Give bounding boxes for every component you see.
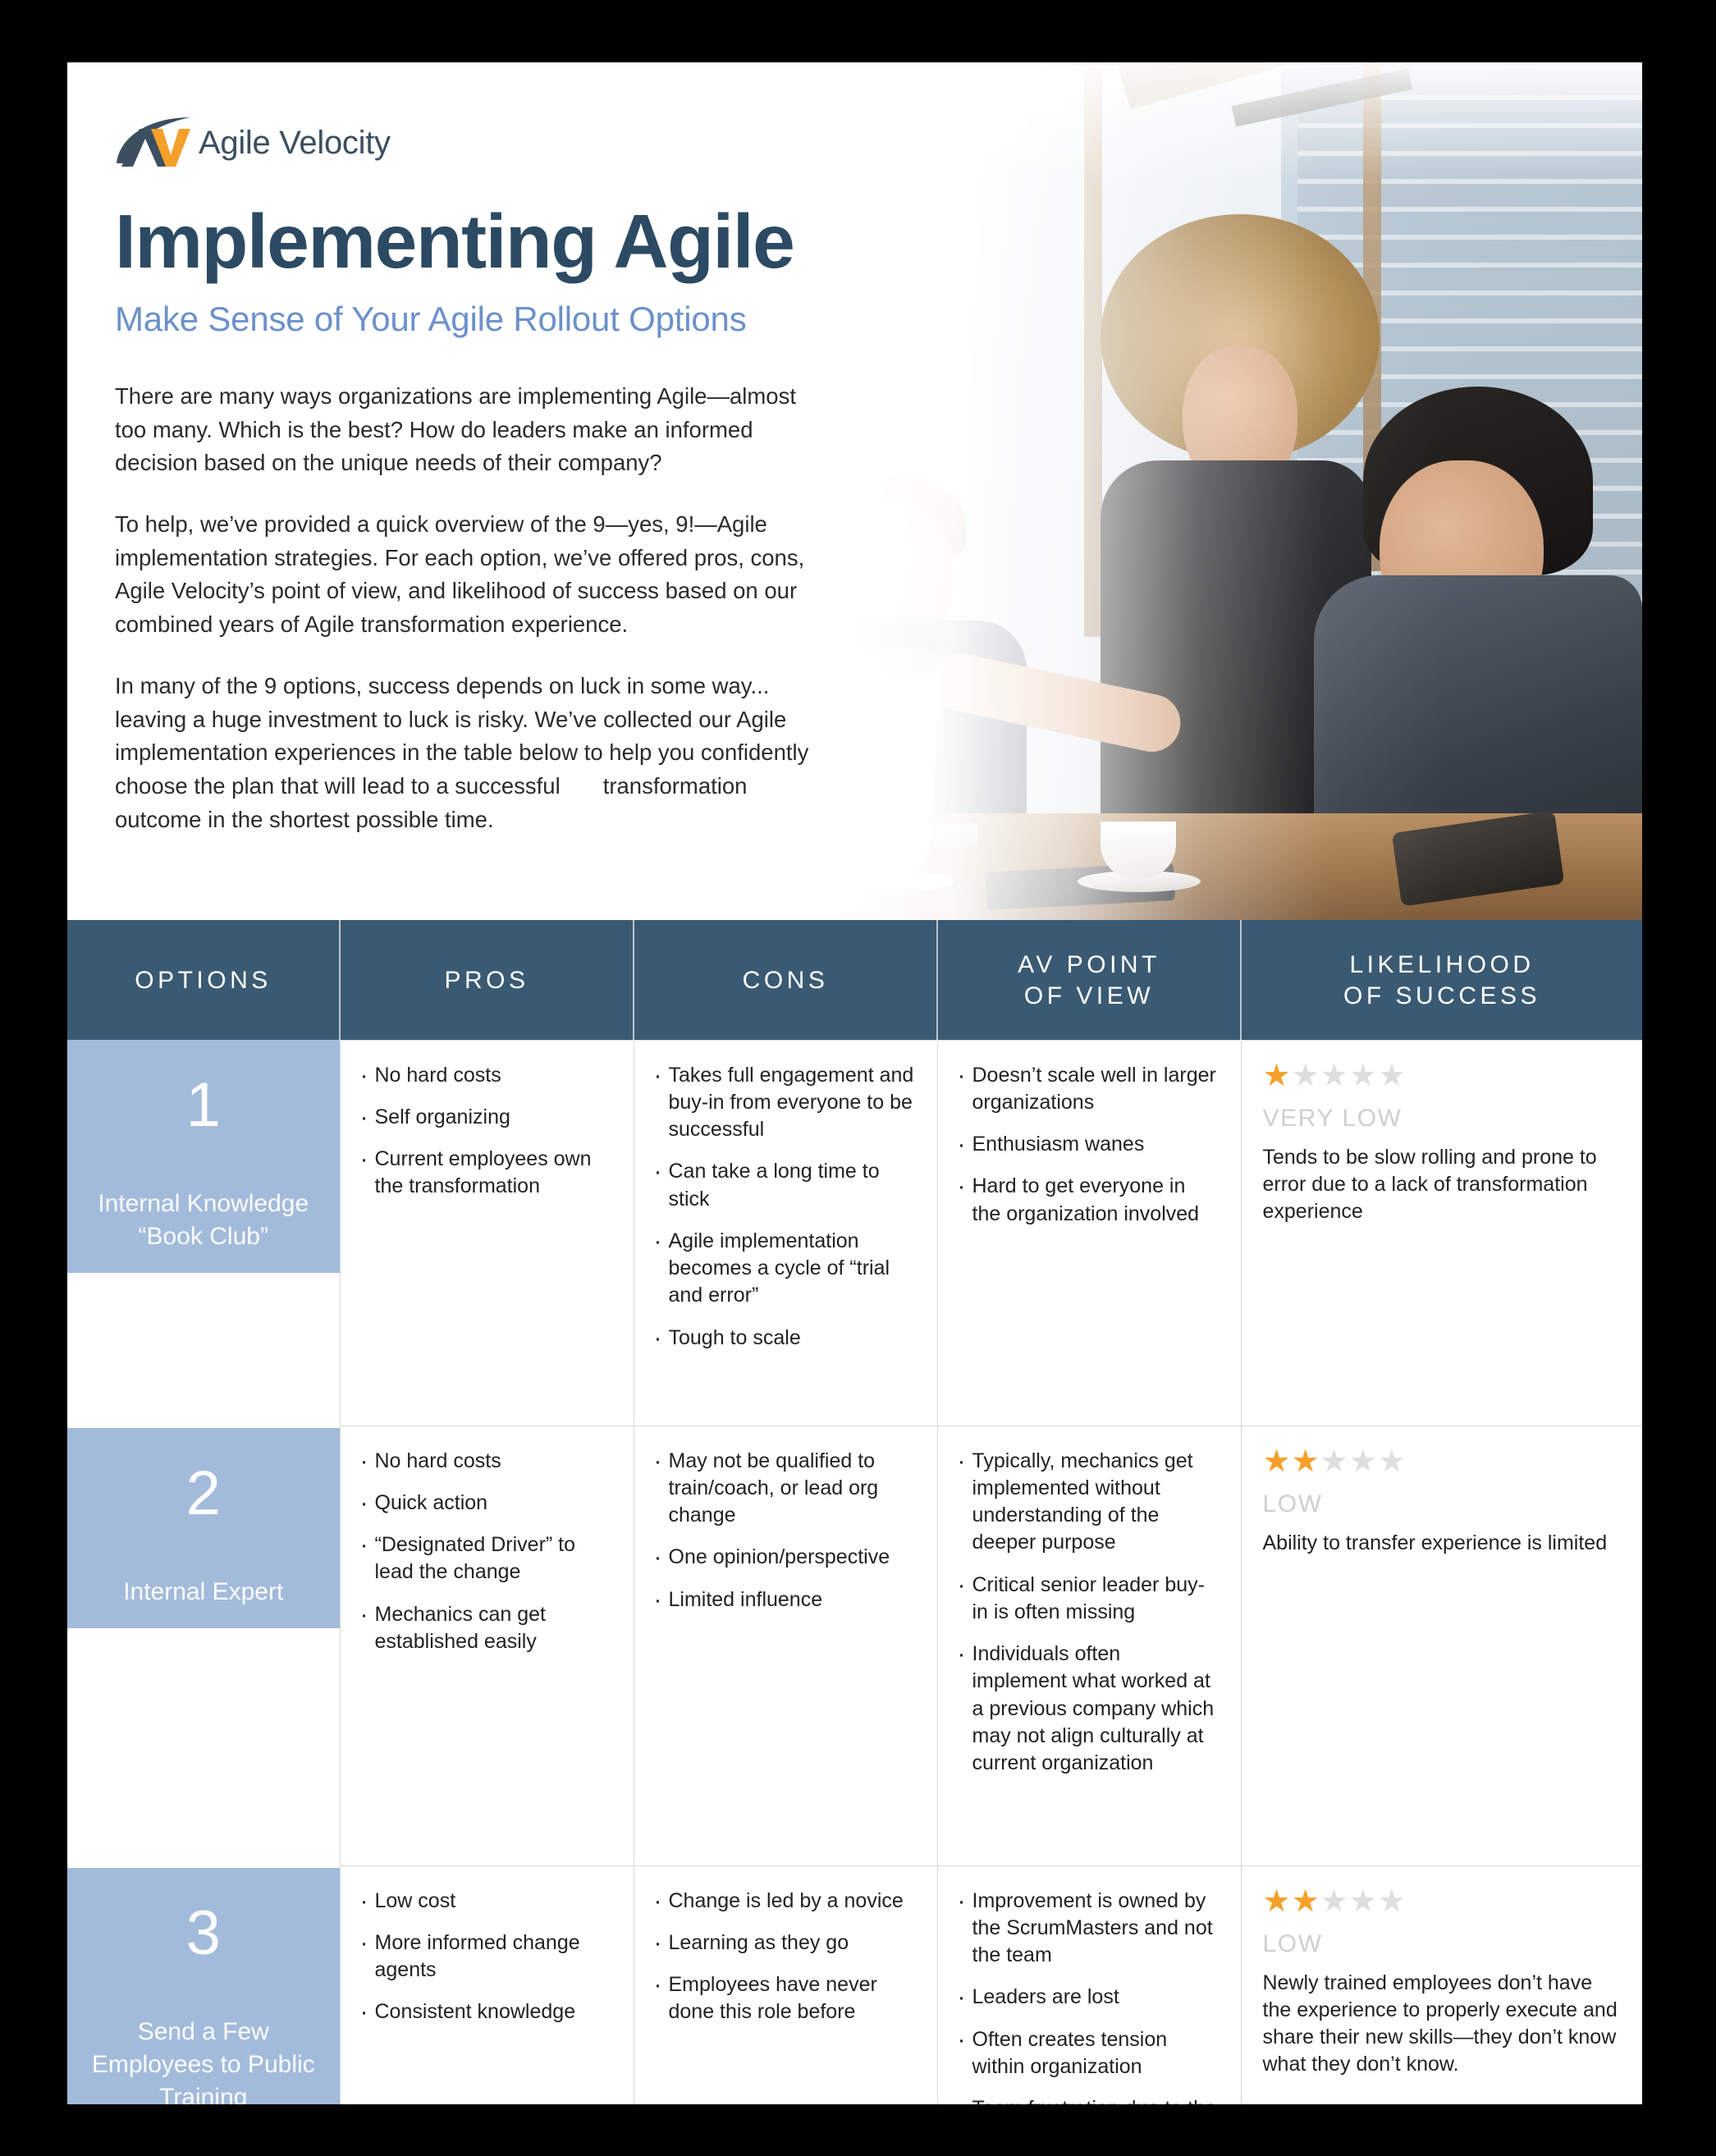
likelihood-note: Tends to be slow rolling and prone to er…: [1263, 1144, 1622, 1226]
star-rating: ★★★★★: [1263, 1886, 1622, 1917]
option-number: 2: [87, 1463, 320, 1525]
status-badge: LOW: [1263, 1930, 1622, 1958]
list-item: Change is led by a novice: [652, 1888, 916, 1915]
av-swoosh-logo-icon: [115, 116, 194, 170]
table-header-row: OPTIONS PROS CONS AV POINT OF VIEW LIKEL…: [67, 920, 1642, 1040]
column-header-likelihood-line-1: LIKELIHOOD: [1250, 950, 1634, 981]
cons-cell: May not be qualified to train/coach, or …: [634, 1426, 937, 1865]
list-item: May not be qualified to train/coach, or …: [652, 1448, 916, 1530]
star-icon: ★: [1292, 1059, 1320, 1093]
column-header-av-line-1: AV POINT: [946, 950, 1232, 981]
star-icon: ★: [1320, 1884, 1349, 1919]
option-cell: 1 Internal Knowledge“Book Club”: [67, 1040, 340, 1426]
star-icon: ★: [1378, 1059, 1407, 1093]
list-item: Tough to scale: [652, 1325, 916, 1352]
star-icon: ★: [1349, 1059, 1378, 1093]
star-icon: ★: [1263, 1059, 1292, 1093]
pros-list: No hard costs Self organizing Current em…: [359, 1062, 612, 1201]
list-item: Doesn’t scale well in larger organizatio…: [956, 1062, 1220, 1117]
list-item: Employees have never done this role befo…: [652, 1971, 916, 2026]
list-item: Consistent knowledge: [359, 1998, 612, 2026]
intro-paragraph-2: To help, we’ve provided a quick overview…: [115, 508, 822, 642]
list-item: Critical senior leader buy-in is often m…: [956, 1572, 1220, 1627]
star-icon: ★: [1263, 1884, 1292, 1919]
pros-cell: Low cost More informed change agents Con…: [340, 1865, 634, 2104]
list-item: Self organizing: [359, 1104, 612, 1131]
option-cell: 3 Send a FewEmployees to PublicTraining: [67, 1865, 340, 2104]
pros-cell: No hard costs Quick action “Designated D…: [340, 1426, 634, 1865]
intro-paragraph-1: There are many ways organizations are im…: [115, 380, 822, 480]
hero-section: Agile Velocity Implementing Agile Make S…: [67, 62, 1642, 920]
star-icon: ★: [1378, 1884, 1407, 1919]
star-rating: ★★★★★: [1263, 1060, 1622, 1092]
list-item: Improvement is owned by the ScrumMasters…: [956, 1888, 1220, 1970]
list-item: Hard to get everyone in the organization…: [956, 1173, 1220, 1228]
option-label: Send a FewEmployees to PublicTraining: [87, 2016, 320, 2104]
list-item: Current employees own the transformation: [359, 1146, 612, 1201]
cons-list: May not be qualified to train/coach, or …: [652, 1448, 916, 1614]
likelihood-cell: ★★★★★ LOW Ability to transfer experience…: [1241, 1426, 1642, 1865]
list-item: No hard costs: [359, 1062, 612, 1089]
option-number: 3: [87, 1902, 320, 1965]
star-icon: ★: [1320, 1059, 1349, 1093]
table-row: 1 Internal Knowledge“Book Club” No hard …: [67, 1040, 1642, 1426]
list-item: Typically, mechanics get implemented wit…: [956, 1448, 1220, 1557]
av-point-of-view-cell: Typically, mechanics get implemented wit…: [937, 1426, 1241, 1865]
av-point-of-view-list: Typically, mechanics get implemented wit…: [956, 1448, 1220, 1778]
star-icon: ★: [1263, 1444, 1292, 1479]
cons-cell: Takes full engagement and buy-in from ev…: [634, 1040, 937, 1426]
star-rating: ★★★★★: [1263, 1446, 1622, 1477]
table-row: 3 Send a FewEmployees to PublicTraining …: [67, 1865, 1642, 2104]
av-point-of-view-cell: Doesn’t scale well in larger organizatio…: [937, 1040, 1241, 1426]
list-item: Agile implementation becomes a cycle of …: [652, 1228, 916, 1310]
column-header-cons: CONS: [634, 920, 937, 1040]
intro-body-copy: There are many ways organizations are im…: [115, 380, 822, 836]
table-body: 1 Internal Knowledge“Book Club” No hard …: [67, 1040, 1642, 2104]
av-point-of-view-list: Doesn’t scale well in larger organizatio…: [956, 1062, 1220, 1228]
column-header-pros: PROS: [340, 920, 634, 1040]
column-header-options: OPTIONS: [67, 920, 340, 1040]
list-item: Limited influence: [652, 1586, 916, 1614]
page-title: Implementing Agile: [115, 204, 936, 280]
column-header-likelihood-of-success: LIKELIHOOD OF SUCCESS: [1241, 920, 1642, 1040]
list-item: More informed change agents: [359, 1929, 612, 1984]
list-item: “Designated Driver” to lead the change: [359, 1531, 612, 1586]
list-item: No hard costs: [359, 1448, 612, 1475]
star-icon: ★: [1378, 1444, 1407, 1479]
page-subtitle: Make Sense of Your Agile Rollout Options: [115, 300, 936, 339]
list-item: One opinion/perspective: [652, 1544, 916, 1571]
list-item: Team frustration due to the ScrumMasters…: [956, 2095, 1220, 2104]
list-item: Low cost: [359, 1888, 612, 1915]
cons-list: Change is led by a novice Learning as th…: [652, 1888, 916, 2026]
brand-logo: Agile Velocity: [115, 113, 936, 172]
likelihood-note: Newly trained employees don’t have the e…: [1263, 1970, 1622, 2079]
list-item: Learning as they go: [652, 1929, 916, 1957]
pros-cell: No hard costs Self organizing Current em…: [340, 1040, 634, 1426]
option-label: Internal Knowledge“Book Club”: [87, 1188, 320, 1253]
star-icon: ★: [1320, 1444, 1349, 1479]
pros-list: Low cost More informed change agents Con…: [359, 1888, 612, 2026]
list-item: Often creates tension within organizatio…: [956, 2026, 1220, 2081]
column-header-av-point-of-view: AV POINT OF VIEW: [937, 920, 1241, 1040]
logo-text: Agile Velocity: [199, 125, 391, 162]
likelihood-cell: ★★★★★ VERY LOW Tends to be slow rolling …: [1241, 1040, 1642, 1426]
star-icon: ★: [1349, 1444, 1378, 1479]
list-item: Leaders are lost: [956, 1984, 1220, 2011]
list-item: Enthusiasm wanes: [956, 1131, 1220, 1158]
column-header-likelihood-line-2: OF SUCCESS: [1250, 981, 1634, 1012]
status-badge: LOW: [1263, 1490, 1622, 1518]
cons-list: Takes full engagement and buy-in from ev…: [652, 1062, 916, 1352]
likelihood-cell: ★★★★★ LOW Newly trained employees don’t …: [1241, 1865, 1642, 2104]
likelihood-note: Ability to transfer experience is limite…: [1263, 1530, 1622, 1557]
option-label: Internal Expert: [87, 1576, 320, 1609]
list-item: Mechanics can get established easily: [359, 1601, 612, 1656]
intro-paragraph-3: In many of the 9 options, success depend…: [115, 670, 822, 836]
list-item: Quick action: [359, 1490, 612, 1517]
option-cell: 2 Internal Expert: [67, 1426, 340, 1865]
av-point-of-view-list: Improvement is owned by the ScrumMasters…: [956, 1888, 1220, 2104]
star-icon: ★: [1292, 1444, 1320, 1479]
list-item: Can take a long time to stick: [652, 1158, 916, 1213]
column-header-av-line-2: OF VIEW: [946, 981, 1232, 1012]
table-row: 2 Internal Expert No hard costs Quick ac…: [67, 1426, 1642, 1865]
list-item: Takes full engagement and buy-in from ev…: [652, 1062, 916, 1144]
star-icon: ★: [1349, 1884, 1378, 1919]
option-number: 1: [87, 1074, 320, 1137]
cons-cell: Change is led by a novice Learning as th…: [634, 1865, 937, 2104]
document-page: Agile Velocity Implementing Agile Make S…: [67, 62, 1642, 2104]
status-badge: VERY LOW: [1263, 1105, 1622, 1133]
pros-list: No hard costs Quick action “Designated D…: [359, 1448, 612, 1656]
star-icon: ★: [1292, 1884, 1320, 1919]
list-item: Individuals often implement what worked …: [956, 1641, 1220, 1777]
agile-options-table: OPTIONS PROS CONS AV POINT OF VIEW LIKEL…: [67, 920, 1642, 2104]
av-point-of-view-cell: Improvement is owned by the ScrumMasters…: [937, 1865, 1241, 2104]
